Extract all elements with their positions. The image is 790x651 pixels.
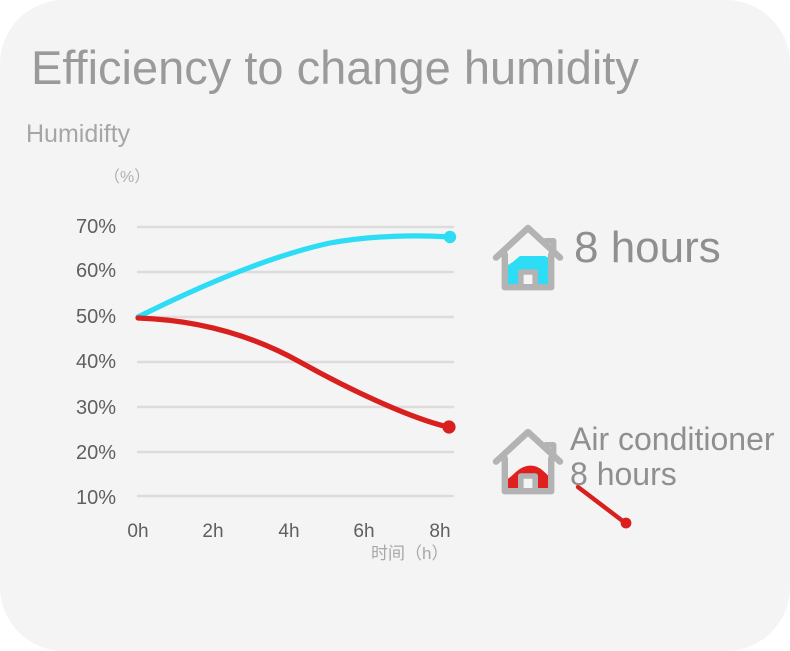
chart-card: Efficiency to change humidity Humidifty …	[0, 0, 790, 651]
legend-label-humidifier: 8 hours	[574, 224, 721, 272]
y-tick-label: 40%	[46, 352, 116, 372]
y-tick-label: 50%	[46, 307, 116, 327]
series-line-air-conditioner	[138, 318, 448, 427]
legend-label-air-conditioner: Air conditioner 8 hours	[570, 422, 775, 491]
x-tick-label: 4h	[262, 522, 316, 541]
page-title: Efficiency to change humidity	[31, 44, 639, 91]
series-endpoint-humidifier	[444, 231, 456, 243]
x-tick-label: 0h	[111, 522, 165, 541]
y-tick-label: 60%	[46, 261, 116, 281]
y-tick-label: 20%	[46, 443, 116, 463]
gridlines	[138, 227, 453, 496]
x-tick-label: 2h	[186, 522, 240, 541]
x-tick-label: 6h	[337, 522, 391, 541]
y-tick-label: 10%	[46, 488, 116, 508]
legend-label-line2: 8 hours	[570, 457, 775, 492]
x-tick-label: 8h	[413, 522, 467, 541]
house-humidity-icon	[488, 216, 568, 296]
y-tick-label: 30%	[46, 398, 116, 418]
legend-label-line1: Air conditioner	[570, 421, 775, 457]
x-axis-title: 时间（h）	[371, 545, 448, 562]
series-endpoint-air-conditioner	[442, 420, 455, 433]
y-tick-label: 70%	[46, 217, 116, 237]
house-air-conditioner-icon	[488, 420, 568, 500]
legend-leader-line	[578, 487, 624, 522]
y-axis-title: Humidifty	[26, 122, 130, 147]
series-line-humidifier	[138, 236, 449, 317]
legend-leader-dot	[621, 518, 632, 529]
y-axis-unit-label: （%）	[104, 170, 150, 186]
